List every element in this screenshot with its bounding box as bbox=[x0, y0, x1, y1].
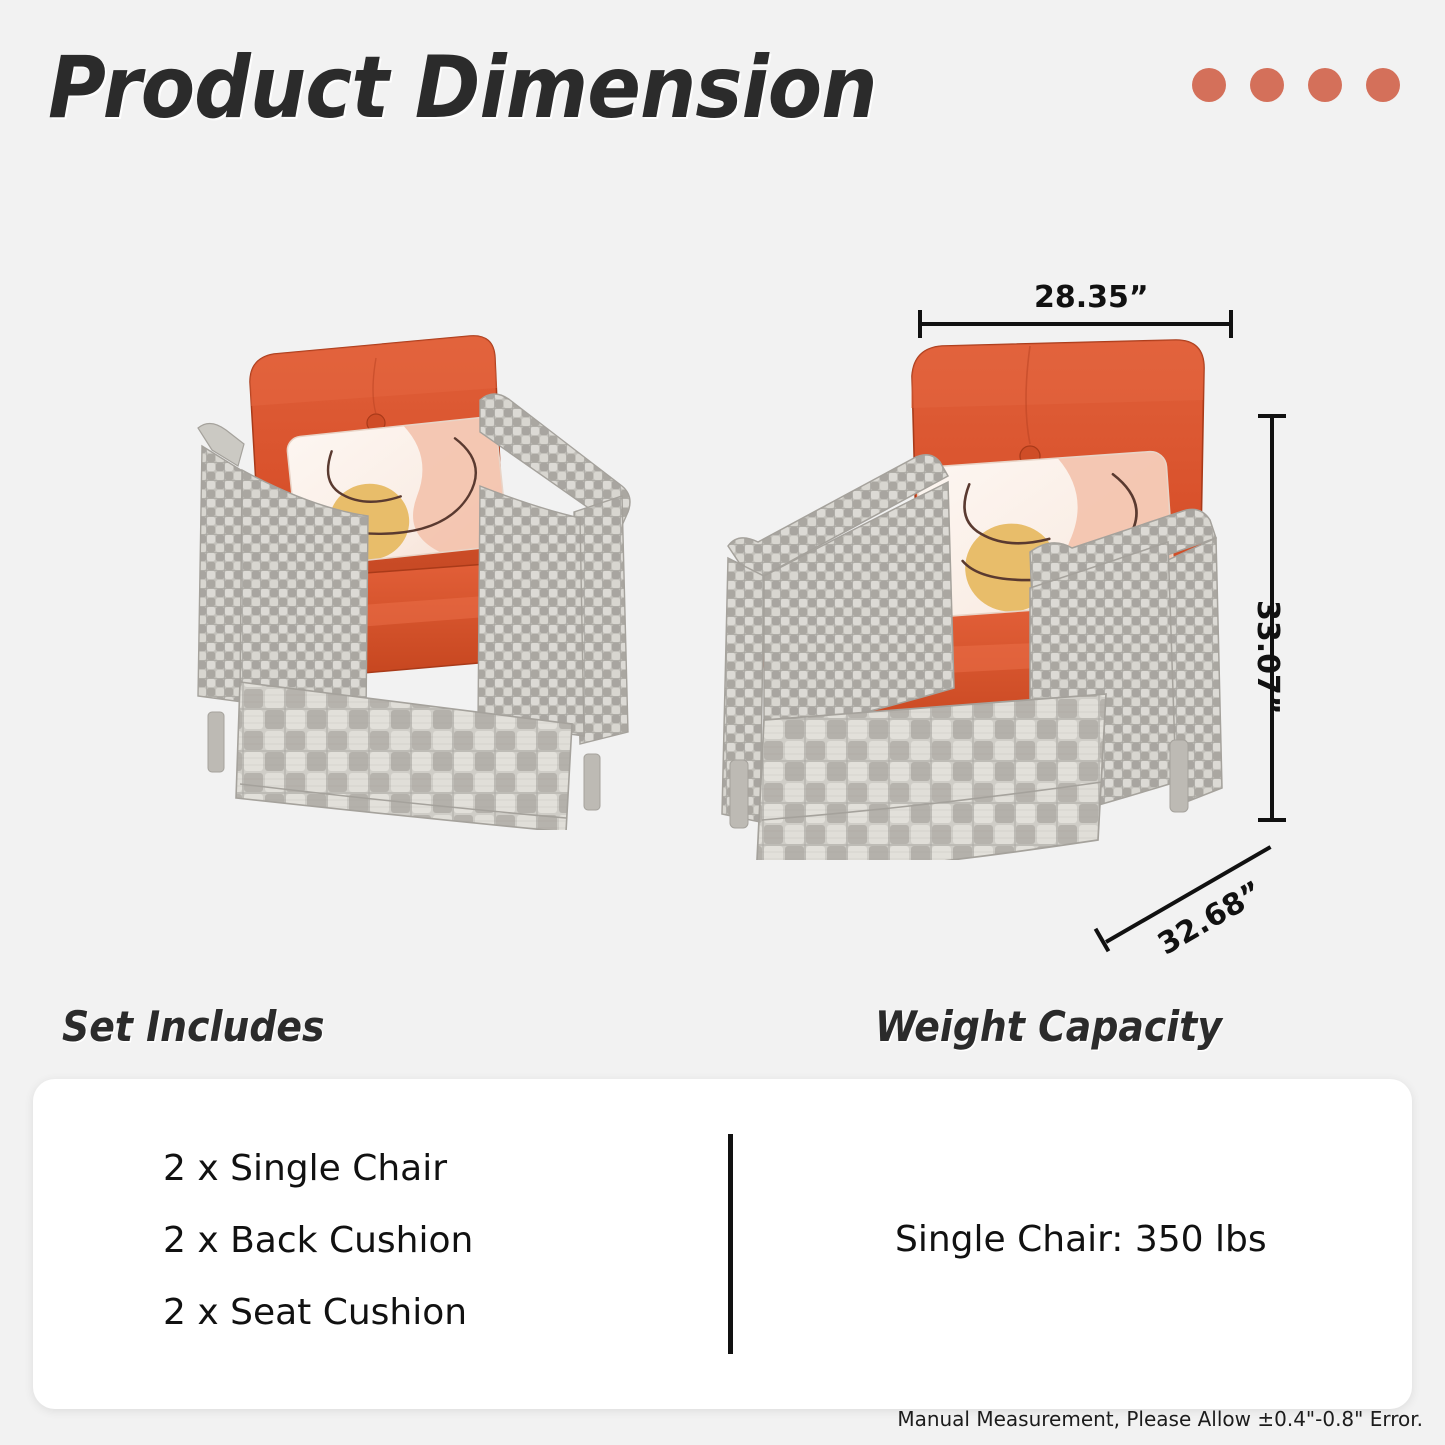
dimension-width-line bbox=[918, 322, 1233, 326]
set-includes-list: 2 x Single Chair 2 x Back Cushion 2 x Se… bbox=[163, 1151, 683, 1367]
decorative-dots bbox=[1192, 68, 1400, 102]
list-item: 2 x Back Cushion bbox=[163, 1223, 683, 1259]
info-card: 2 x Single Chair 2 x Back Cushion 2 x Se… bbox=[33, 1079, 1412, 1409]
dimension-width-cap-left bbox=[918, 310, 922, 338]
dimension-width-cap-right bbox=[1229, 310, 1233, 338]
dot-icon bbox=[1192, 68, 1226, 102]
list-item: 2 x Single Chair bbox=[163, 1151, 683, 1187]
product-image-chair-left bbox=[180, 310, 660, 830]
dimension-height-cap-bottom bbox=[1258, 818, 1286, 822]
dot-icon bbox=[1366, 68, 1400, 102]
dimension-height-label: 33.07” bbox=[1250, 600, 1285, 715]
dot-icon bbox=[1250, 68, 1284, 102]
footer-disclaimer: Manual Measurement, Please Allow ±0.4"-0… bbox=[897, 1407, 1423, 1431]
weight-capacity-value: Single Chair: 350 lbs bbox=[895, 1219, 1267, 1260]
dimension-height-cap-top bbox=[1258, 414, 1286, 418]
dot-icon bbox=[1308, 68, 1342, 102]
section-heading-set-includes: Set Includes bbox=[62, 1002, 325, 1051]
infographic-root: Product Dimension bbox=[0, 0, 1445, 1445]
list-item: 2 x Seat Cushion bbox=[163, 1295, 683, 1331]
card-vertical-divider bbox=[728, 1134, 733, 1354]
product-stage: 28.35” 33.07” 32.68” bbox=[0, 170, 1445, 990]
dimension-depth-label: 32.68” bbox=[1152, 875, 1269, 963]
product-image-chair-right bbox=[700, 320, 1260, 860]
dimension-width-label: 28.35” bbox=[1034, 280, 1149, 315]
section-heading-weight-capacity: Weight Capacity bbox=[875, 1002, 1222, 1051]
page-title: Product Dimension bbox=[48, 38, 877, 138]
